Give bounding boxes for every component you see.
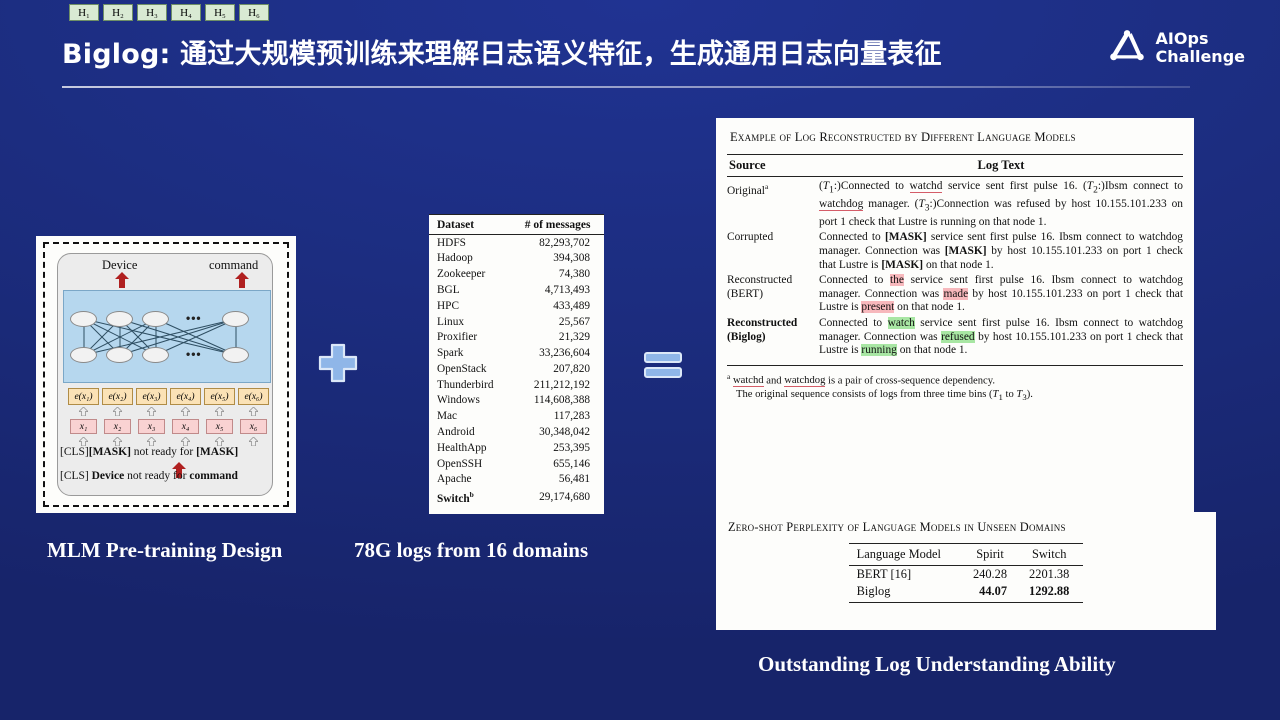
ppl-switch: 2201.38 [1021, 566, 1083, 584]
table-row: Originala (T1:)Connected to watchd servi… [727, 177, 1183, 232]
dataset-count: 4,713,493 [511, 282, 604, 298]
example-source-original: Originala [727, 177, 819, 232]
dataset-table-body: HDFS82,293,702 Hadoop394,308 Zookeeper74… [429, 235, 604, 508]
hollow-up-arrow-5 [215, 407, 224, 416]
footnote-line-1: watchd and watchdog is a pair of cross-s… [733, 375, 995, 387]
table-row: Proxifier21,329 [429, 330, 604, 346]
footnote-marker: a [727, 372, 730, 381]
source-text: Original [727, 185, 765, 197]
token-box-5: x₅ [206, 419, 233, 434]
red-up-arrow-icon-right [235, 272, 249, 288]
embedding-box-4: e(x₄) [170, 388, 201, 405]
example-col-logtext: Log Text [819, 155, 1183, 177]
mlm-encoder-strip [63, 290, 271, 383]
aiops-challenge-logo: AIOps Challenge [1101, 25, 1245, 71]
ppl-col-switch: Switch [1021, 544, 1083, 566]
hidden-box-2: H₂ [103, 4, 133, 21]
example-source-corrupted: Corrupted [727, 231, 819, 274]
dataset-name: Apache [429, 472, 511, 488]
corrupted-mask-1: [MASK] [885, 231, 927, 243]
source-line-1: Reconstructed [727, 274, 792, 286]
dataset-name: OpenSSH [429, 456, 511, 472]
dataset-count: 433,489 [511, 298, 604, 314]
dataset-header-row: Dataset # of messages [429, 215, 604, 235]
embedding-box-6: e(x₆) [238, 388, 269, 405]
example-table: Source Log Text Originala (T1:)Connected… [727, 154, 1183, 360]
table-row: Windows114,608,388 [429, 393, 604, 409]
source-line-2: (Biglog) [727, 331, 766, 343]
example-logtext-bert: Connected to the service sent first puls… [819, 274, 1183, 317]
hollow-up-arrow-4 [181, 407, 190, 416]
bert-highlight-2: made [943, 288, 968, 300]
dataset-count: 394,308 [511, 251, 604, 267]
plus-operator-icon [316, 341, 360, 385]
hidden-box-6: H₆ [239, 4, 269, 21]
hollow-up-arrow-12 [249, 437, 258, 446]
perplexity-header-row: Language Model Spirit Switch [849, 544, 1084, 566]
dataset-name: OpenStack [429, 361, 511, 377]
caption-log-ability: Outstanding Log Understanding Ability [758, 652, 1116, 677]
dataset-name: Hadoop [429, 251, 511, 267]
hidden-box-4: H₄ [171, 4, 201, 21]
logo-text: AIOps Challenge [1156, 30, 1245, 66]
orig-mid: not ready for [127, 470, 189, 482]
source-line-2: (BERT) [727, 288, 763, 300]
corrupted-mask-3: [MASK] [881, 259, 923, 271]
caption-mlm-design: MLM Pre-training Design [47, 538, 282, 563]
bert-highlight-1: the [890, 274, 904, 286]
perplexity-table-caption: Zero-shot Perplexity of Language Models … [726, 518, 1206, 543]
dataset-count: 117,283 [511, 409, 604, 425]
orig-device: Device [92, 470, 125, 482]
example-source-biglog: Reconstructed(Biglog) [727, 317, 819, 360]
mlm-node-top-4 [222, 311, 249, 327]
hollow-up-arrow-1 [79, 407, 88, 416]
dataset-name: HPC [429, 298, 511, 314]
ppl-col-model: Language Model [849, 544, 965, 566]
table-row: Mac117,283 [429, 409, 604, 425]
orig-command: command [189, 470, 238, 482]
biglog-highlight-2: refused [941, 331, 975, 343]
hollow-up-arrow-11 [215, 437, 224, 446]
dataset-count: 114,608,388 [511, 393, 604, 409]
hollow-up-arrow-6 [249, 407, 258, 416]
dataset-count: 33,236,604 [511, 345, 604, 361]
mlm-original-sentence: [CLS] Device not ready for command [60, 470, 275, 482]
token-box-6: x₆ [240, 419, 267, 434]
example-source-bert: Reconstructed(BERT) [727, 274, 819, 317]
mlm-node-bottom-3 [142, 347, 169, 363]
table-row: Apache56,481 [429, 472, 604, 488]
table-row: HPC433,489 [429, 298, 604, 314]
example-header-row: Source Log Text [727, 155, 1183, 177]
table-row: Thunderbird211,212,192 [429, 377, 604, 393]
corrupted-mask-2: [MASK] [945, 245, 987, 257]
token-box-3: x₃ [138, 419, 165, 434]
orig-cls: [CLS] [60, 470, 92, 482]
dataset-count: 74,380 [511, 267, 604, 283]
dataset-name: Thunderbird [429, 377, 511, 393]
footnote-watchdog: watchdog [784, 375, 825, 387]
dataset-count: 30,348,042 [511, 424, 604, 440]
hidden-box-3: H₃ [137, 4, 167, 21]
dataset-name: Proxifier [429, 330, 511, 346]
mlm-output-left-label: Device [102, 258, 137, 273]
table-row: Corrupted Connected to [MASK] service se… [727, 231, 1183, 274]
token-box-4: x₄ [172, 419, 199, 434]
dataset-col-count: # of messages [511, 215, 604, 235]
hollow-up-arrow-7 [79, 437, 88, 446]
perplexity-table-body: BERT [16] 240.28 2201.38 Biglog 44.07 12… [849, 566, 1084, 603]
footnote-watchd: watchd [733, 375, 764, 387]
mlm-node-bottom-1 [70, 347, 97, 363]
logo-line-2: Challenge [1156, 48, 1245, 66]
example-logtext-original: (T1:)Connected to watchd service sent fi… [819, 177, 1183, 232]
table-row: Zookeeper74,380 [429, 267, 604, 283]
title-divider [62, 86, 1190, 88]
dataset-name: HDFS [429, 235, 511, 251]
masked-cls: [CLS] [60, 446, 89, 458]
footnote-line-2: The original sequence consists of logs f… [727, 388, 1183, 405]
equals-operator-icon [643, 350, 683, 380]
ppl-model: Biglog [849, 583, 965, 603]
source-line-1: Reconstructed [727, 317, 797, 329]
dataset-name: Zookeeper [429, 267, 511, 283]
mlm-masked-sentence: [CLS][MASK] not ready for [MASK] [60, 446, 275, 458]
original-watchd: watchd [910, 180, 943, 193]
token-box-1: x₁ [70, 419, 97, 434]
dataset-name: Switchb [429, 488, 511, 508]
dataset-count: 29,174,680 [511, 488, 604, 508]
aiops-triangle-icon [1101, 25, 1147, 71]
mlm-ellipsis-bottom: ••• [186, 347, 202, 361]
caption-dataset-volume: 78G logs from 16 domains [354, 538, 588, 563]
dataset-name: Linux [429, 314, 511, 330]
embedding-box-5: e(x₅) [204, 388, 235, 405]
masked-token-2: [MASK] [196, 446, 238, 458]
perplexity-table-panel: Zero-shot Perplexity of Language Models … [716, 512, 1216, 630]
dataset-count: 25,567 [511, 314, 604, 330]
dataset-count: 253,395 [511, 440, 604, 456]
perplexity-table: Language Model Spirit Switch BERT [16] 2… [849, 543, 1084, 603]
ppl-spirit: 240.28 [965, 566, 1021, 584]
dataset-name: Windows [429, 393, 511, 409]
dataset-count: 21,329 [511, 330, 604, 346]
mlm-output-right-label: command [209, 258, 258, 273]
masked-token-1: [MASK] [89, 446, 131, 458]
example-logtext-corrupted: Connected to [MASK] service sent first p… [819, 231, 1183, 274]
table-row: HealthApp253,395 [429, 440, 604, 456]
table-row: BGL4,713,493 [429, 282, 604, 298]
dataset-count: 655,146 [511, 456, 604, 472]
hidden-box-5: H₅ [205, 4, 235, 21]
mlm-node-top-1 [70, 311, 97, 327]
ppl-spirit: 44.07 [965, 583, 1021, 603]
dataset-count: 207,820 [511, 361, 604, 377]
dataset-col-name: Dataset [429, 215, 511, 235]
table-row: BERT [16] 240.28 2201.38 [849, 566, 1084, 584]
table-row: Reconstructed(BERT) Connected to the ser… [727, 274, 1183, 317]
hollow-up-arrow-8 [113, 437, 122, 446]
ppl-col-spirit: Spirit [965, 544, 1021, 566]
example-table-head: Source Log Text [727, 155, 1183, 177]
table-row: Linux25,567 [429, 314, 604, 330]
perplexity-table-head: Language Model Spirit Switch [849, 544, 1084, 566]
dataset-count: 211,212,192 [511, 377, 604, 393]
example-col-source: Source [727, 155, 819, 177]
mlm-ellipsis-top: ••• [186, 311, 202, 325]
dataset-name: BGL [429, 282, 511, 298]
dataset-name-superscript: b [470, 490, 474, 499]
dataset-table-panel: Dataset # of messages HDFS82,293,702 Had… [429, 214, 604, 514]
source-superscript: a [765, 182, 768, 191]
logo-line-1: AIOps [1156, 30, 1245, 48]
mlm-node-bottom-2 [106, 347, 133, 363]
ppl-switch: 1292.88 [1021, 583, 1083, 603]
slide-root: Biglog: 通过大规模预训练来理解日志语义特征，生成通用日志向量表征 AIO… [0, 0, 1280, 720]
page-title: Biglog: 通过大规模预训练来理解日志语义特征，生成通用日志向量表征 [62, 32, 942, 71]
embedding-box-3: e(x₃) [136, 388, 167, 405]
table-row: Hadoop394,308 [429, 251, 604, 267]
dataset-count: 82,293,702 [511, 235, 604, 251]
red-up-arrow-icon-left [115, 272, 129, 288]
hollow-up-arrow-9 [147, 437, 156, 446]
dataset-count: 56,481 [511, 472, 604, 488]
dataset-name: Spark [429, 345, 511, 361]
dataset-table-head: Dataset # of messages [429, 215, 604, 235]
hidden-box-1: H₁ [69, 4, 99, 21]
table-row: Android30,348,042 [429, 424, 604, 440]
table-row: Reconstructed(Biglog) Connected to watch… [727, 317, 1183, 360]
dataset-name-text: Switch [437, 493, 470, 505]
bert-highlight-3: present [861, 301, 894, 313]
embedding-box-2: e(x₂) [102, 388, 133, 405]
mlm-node-top-3 [142, 311, 169, 327]
example-table-caption: Example of Log Reconstructed by Differen… [727, 127, 1183, 154]
example-table-panel: Example of Log Reconstructed by Differen… [716, 118, 1194, 512]
hollow-up-arrow-2 [113, 407, 122, 416]
table-row: Biglog 44.07 1292.88 [849, 583, 1084, 603]
table-row: Spark33,236,604 [429, 345, 604, 361]
biglog-highlight-1: watch [888, 317, 915, 329]
table-row: OpenSSH655,146 [429, 456, 604, 472]
hollow-up-arrow-3 [147, 407, 156, 416]
ppl-model: BERT [16] [849, 566, 965, 584]
hollow-up-arrow-10 [181, 437, 190, 446]
dataset-table: Dataset # of messages HDFS82,293,702 Had… [429, 214, 604, 507]
original-watchdog: watchdog [819, 198, 863, 211]
example-table-footnote: a watchd and watchdog is a pair of cross… [727, 365, 1183, 405]
token-box-2: x₂ [104, 419, 131, 434]
table-row: OpenStack207,820 [429, 361, 604, 377]
dataset-name: Android [429, 424, 511, 440]
dataset-name: HealthApp [429, 440, 511, 456]
dataset-name: Mac [429, 409, 511, 425]
mlm-node-bottom-4 [222, 347, 249, 363]
example-logtext-biglog: Connected to watch service sent first pu… [819, 317, 1183, 360]
embedding-box-1: e(x₁) [68, 388, 99, 405]
masked-mid: not ready for [134, 446, 196, 458]
biglog-highlight-3: running [861, 344, 896, 356]
example-table-body: Originala (T1:)Connected to watchd servi… [727, 177, 1183, 360]
table-row: Switchb 29,174,680 [429, 488, 604, 508]
table-row: HDFS82,293,702 [429, 235, 604, 251]
mlm-node-top-2 [106, 311, 133, 327]
